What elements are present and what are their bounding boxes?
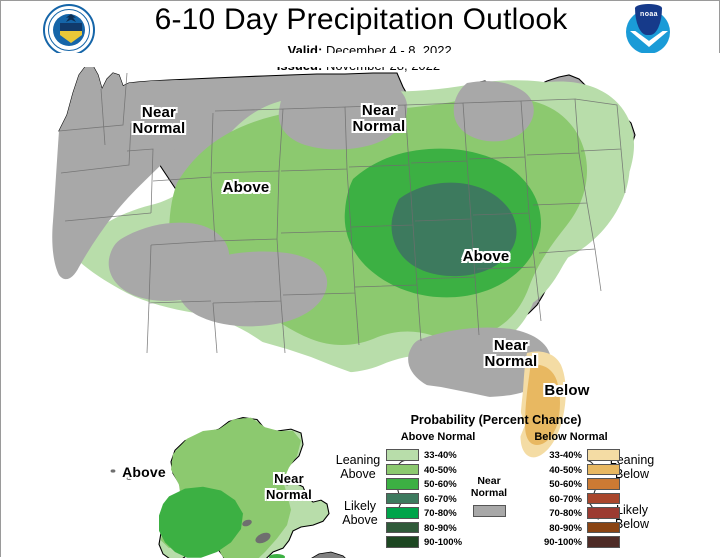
map-label-northern-plains: Near Normal (331, 103, 427, 135)
legend-range-above-5: 80-90% (424, 523, 457, 534)
legend-range-below-1: 40-50% (527, 465, 582, 476)
legend-swatch-above-6 (386, 536, 419, 548)
legend-above-header: Above Normal (383, 431, 493, 443)
likely-above-line1: Likely (344, 499, 376, 513)
legend-swatch-below-0 (587, 449, 620, 461)
legend-swatch-above-2 (386, 478, 419, 490)
legend-swatch-above-3 (386, 493, 419, 505)
ocean-mask-left (1, 53, 57, 353)
near-normal-line2: Normal (471, 487, 507, 499)
noaa-wordmark: noaa (626, 11, 672, 18)
map-label-al-line1: Near (274, 471, 304, 486)
legend-leaning-above-label: Leaning Above (327, 453, 389, 481)
legend-row: 50-60% (527, 478, 637, 491)
map-label-se-line2: Normal (485, 353, 538, 370)
legend-row: 40-50% (527, 464, 637, 477)
map-label-np-line1: Near (362, 102, 396, 119)
legend-range-above-0: 33-40% (424, 450, 457, 461)
legend-near-normal-swatch (473, 505, 506, 517)
legend-range-above-3: 60-70% (424, 494, 457, 505)
map-label-aleutians: Near Normal (244, 471, 334, 503)
legend-below-swatch-column: 33-40%40-50%50-60%60-70%70-80%80-90%90-1… (527, 449, 637, 551)
noaa-logo: noaa (626, 4, 672, 54)
legend-range-above-4: 70-80% (424, 508, 457, 519)
map-label-np-line2: Normal (353, 118, 406, 135)
legend-row: 80-90% (527, 522, 637, 535)
legend-swatch-below-2 (587, 478, 620, 490)
legend-swatch-above-4 (386, 507, 419, 519)
map-label-al-line2: Normal (266, 487, 312, 502)
legend-row: 33-40% (386, 449, 496, 462)
page-title: 6-10 Day Precipitation Outlook (1, 3, 720, 37)
map-label-pacific-northwest: Near Normal (111, 105, 207, 137)
legend-row: 90-100% (386, 536, 496, 549)
legend-swatch-below-4 (587, 507, 620, 519)
legend-range-above-2: 50-60% (424, 479, 457, 490)
legend-range-below-0: 33-40% (527, 450, 582, 461)
leaning-above-line2: Above (340, 467, 375, 481)
legend-swatch-above-1 (386, 464, 419, 476)
map-label-pnw-line2: Normal (133, 120, 186, 137)
map-label-southeast: Near Normal (463, 338, 559, 370)
legend-range-below-3: 60-70% (527, 494, 582, 505)
legend-swatch-below-3 (587, 493, 620, 505)
legend-range-below-4: 70-80% (527, 508, 582, 519)
legend-row: 60-70% (527, 493, 637, 506)
map-label-intermountain-west: Above (191, 180, 301, 195)
legend-likely-above-label: Likely Above (329, 499, 391, 527)
legend-near-normal-label: Near Normal (459, 475, 519, 499)
map-label-ohio-valley: Above (431, 249, 541, 264)
legend-range-above-1: 40-50% (424, 465, 457, 476)
likely-above-line2: Above (342, 513, 377, 527)
legend-range-below-5: 80-90% (527, 523, 582, 534)
legend-near-normal-block: Near Normal (459, 475, 519, 517)
legend-row: 90-100% (527, 536, 637, 549)
ocean-mask-top (1, 53, 720, 67)
leaning-above-line1: Leaning (336, 453, 381, 467)
legend-swatch-above-0 (386, 449, 419, 461)
legend-range-below-2: 50-60% (527, 479, 582, 490)
map-label-alaska: Above (99, 465, 189, 480)
map-label-florida: Below (519, 383, 615, 398)
legend-swatch-below-5 (587, 522, 620, 534)
header: 6-10 Day Precipitation Outlook Valid: De… (1, 1, 720, 59)
legend-row: 33-40% (527, 449, 637, 462)
outlook-map-page: 6-10 Day Precipitation Outlook Valid: De… (0, 0, 720, 557)
near-normal-line1: Near (477, 475, 500, 487)
legend-title: Probability (Percent Chance) (331, 413, 661, 427)
legend-row: 80-90% (386, 522, 496, 535)
legend-swatch-below-1 (587, 464, 620, 476)
legend: Probability (Percent Chance) Above Norma… (331, 413, 661, 553)
map-label-pnw-line1: Near (142, 104, 176, 121)
legend-range-above-6: 90-100% (424, 537, 462, 548)
legend-swatch-below-6 (587, 536, 620, 548)
legend-below-header: Below Normal (516, 431, 626, 443)
legend-row: 70-80% (527, 507, 637, 520)
legend-swatch-above-5 (386, 522, 419, 534)
legend-range-below-6: 90-100% (527, 537, 582, 548)
map-label-se-line1: Near (494, 337, 528, 354)
